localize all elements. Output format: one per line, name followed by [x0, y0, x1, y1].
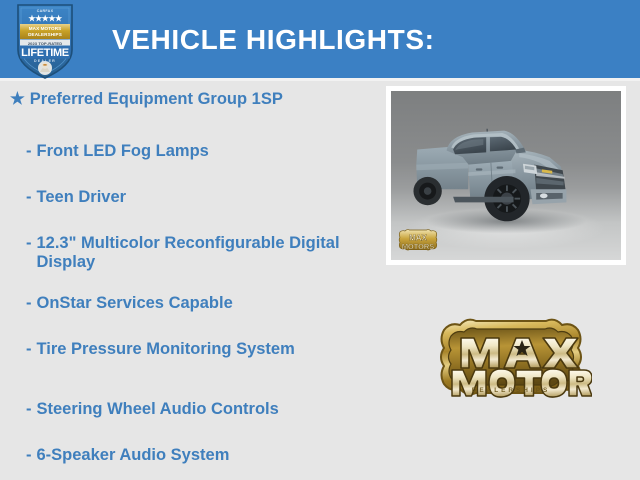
carfax-badge: CARFAX ★★★★★ MAX MOTORS DEALERSHIPS 2023…: [14, 2, 76, 80]
list-item-label: 6-Speaker Audio System: [37, 446, 230, 465]
bullet-dash-icon: -: [26, 142, 32, 161]
list-item: - 6-Speaker Audio System: [26, 446, 229, 465]
logo-tagline: DEALERSHIPS: [472, 387, 550, 394]
list-item: - Tire Pressure Monitoring System: [26, 340, 316, 359]
list-item: - Front LED Fog Lamps: [26, 142, 209, 161]
list-item: ★ Preferred Equipment Group 1SP: [10, 90, 283, 109]
photo-watermark-logo: MAX MOTORS: [397, 228, 439, 254]
bullet-dash-icon: -: [26, 400, 32, 419]
carfax-shield-icon: [14, 2, 76, 80]
list-item-label: Preferred Equipment Group 1SP: [30, 90, 283, 109]
bullet-star-icon: ★: [10, 90, 25, 109]
max-motors-logo: DEALERSHIPS: [430, 316, 592, 412]
list-item-label: Teen Driver: [37, 188, 127, 207]
bullet-dash-icon: -: [26, 234, 32, 253]
list-item-label: 12.3" Multicolor Reconfigurable Digital …: [37, 234, 367, 272]
vehicle-photo-frame: MAX MOTORS: [386, 86, 626, 265]
list-item-label: Front LED Fog Lamps: [37, 142, 209, 161]
bullet-dash-icon: -: [26, 340, 32, 359]
list-item-label: OnStar Services Capable: [37, 294, 233, 313]
vehicle-photo: MAX MOTORS: [391, 91, 621, 260]
list-item: - Teen Driver: [26, 188, 126, 207]
header-divider: [0, 78, 640, 81]
list-item: - Steering Wheel Audio Controls: [26, 400, 279, 419]
list-item-label: Tire Pressure Monitoring System: [37, 340, 295, 359]
page-title: VEHICLE HIGHLIGHTS:: [112, 24, 435, 56]
list-item: - 12.3" Multicolor Reconfigurable Digita…: [26, 234, 366, 272]
bullet-dash-icon: -: [26, 446, 32, 465]
rear-wheel: [413, 177, 441, 205]
slide-root: CARFAX ★★★★★ MAX MOTORS DEALERSHIPS 2023…: [0, 0, 640, 480]
list-item-label: Steering Wheel Audio Controls: [37, 400, 279, 419]
svg-text:MOTORS: MOTORS: [402, 242, 434, 251]
list-item: - OnStar Services Capable: [26, 294, 233, 313]
bullet-dash-icon: -: [26, 294, 32, 313]
bullet-dash-icon: -: [26, 188, 32, 207]
